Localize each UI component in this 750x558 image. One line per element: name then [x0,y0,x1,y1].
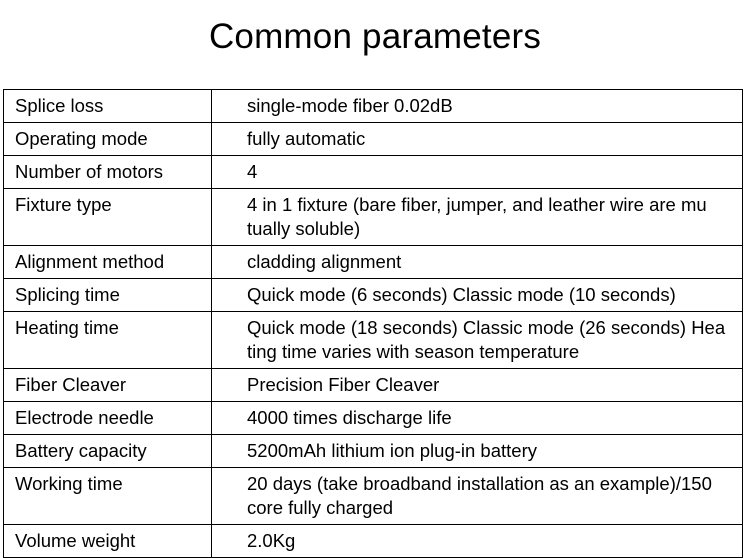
spec-table-body: Splice losssingle-mode fiber 0.02dBOpera… [4,90,743,558]
parameter-value-line: 4 in 1 fixture (bare fiber, jumper, and … [247,193,740,217]
parameter-label-cell: Number of motors [4,156,212,189]
table-row: Splicing timeQuick mode (6 seconds) Clas… [4,279,743,312]
table-row: Number of motors4 [4,156,743,189]
parameter-value-cell: Precision Fiber Cleaver [212,369,743,402]
parameter-value-line: 2.0Kg [247,529,740,553]
parameter-value-cell: Quick mode (6 seconds) Classic mode (10 … [212,279,743,312]
parameter-value-cell: fully automatic [212,123,743,156]
parameter-value-line: 4 [247,160,740,184]
spec-sheet-page: Common parameters Splice losssingle-mode… [0,0,750,525]
parameter-label-cell: Fixture type [4,189,212,246]
parameter-label-cell: Electrode needle [4,402,212,435]
parameter-value-cell: 2.0Kg [212,525,743,558]
parameter-value-line: 4000 times discharge life [247,406,740,430]
table-row: Splice losssingle-mode fiber 0.02dB [4,90,743,123]
parameter-label-cell: Splice loss [4,90,212,123]
table-row: Heating timeQuick mode (18 seconds) Clas… [4,312,743,369]
parameter-label-cell: Fiber Cleaver [4,369,212,402]
parameter-value-line: fully automatic [247,127,740,151]
parameter-label-cell: Heating time [4,312,212,369]
parameter-value-cell: single-mode fiber 0.02dB [212,90,743,123]
parameter-label-cell: Splicing time [4,279,212,312]
parameter-value-line: ting time varies with season temperature [247,340,740,364]
parameter-value-cell: 20 days (take broadband installation as … [212,468,743,525]
table-row: Fiber CleaverPrecision Fiber Cleaver [4,369,743,402]
parameter-value-cell: 4000 times discharge life [212,402,743,435]
table-row: Operating modefully automatic [4,123,743,156]
parameter-value-line: core fully charged [247,496,740,520]
parameter-label-cell: Battery capacity [4,435,212,468]
parameter-value-line: cladding alignment [247,250,740,274]
parameter-label-cell: Operating mode [4,123,212,156]
parameter-value-line: 5200mAh lithium ion plug-in battery [247,439,740,463]
page-title: Common parameters [0,16,750,58]
table-row: Working time20 days (take broadband inst… [4,468,743,525]
table-row: Volume weight2.0Kg [4,525,743,558]
parameter-value-line: 20 days (take broadband installation as … [247,472,740,496]
parameter-value-cell: 4 [212,156,743,189]
table-row: Alignment methodcladding alignment [4,246,743,279]
table-row: Fixture type4 in 1 fixture (bare fiber, … [4,189,743,246]
parameter-label-cell: Working time [4,468,212,525]
parameter-value-line: single-mode fiber 0.02dB [247,94,740,118]
parameter-value-cell: cladding alignment [212,246,743,279]
table-row: Battery capacity5200mAh lithium ion plug… [4,435,743,468]
parameter-value-cell: 4 in 1 fixture (bare fiber, jumper, and … [212,189,743,246]
parameter-value-line: tually soluble) [247,217,740,241]
parameter-value-line: Quick mode (18 seconds) Classic mode (26… [247,316,740,340]
parameter-value-cell: Quick mode (18 seconds) Classic mode (26… [212,312,743,369]
common-parameters-table: Splice losssingle-mode fiber 0.02dBOpera… [3,89,743,558]
parameter-value-cell: 5200mAh lithium ion plug-in battery [212,435,743,468]
parameter-value-line: Quick mode (6 seconds) Classic mode (10 … [247,283,740,307]
parameter-label-cell: Volume weight [4,525,212,558]
table-row: Electrode needle4000 times discharge lif… [4,402,743,435]
parameter-label-cell: Alignment method [4,246,212,279]
parameter-value-line: Precision Fiber Cleaver [247,373,740,397]
